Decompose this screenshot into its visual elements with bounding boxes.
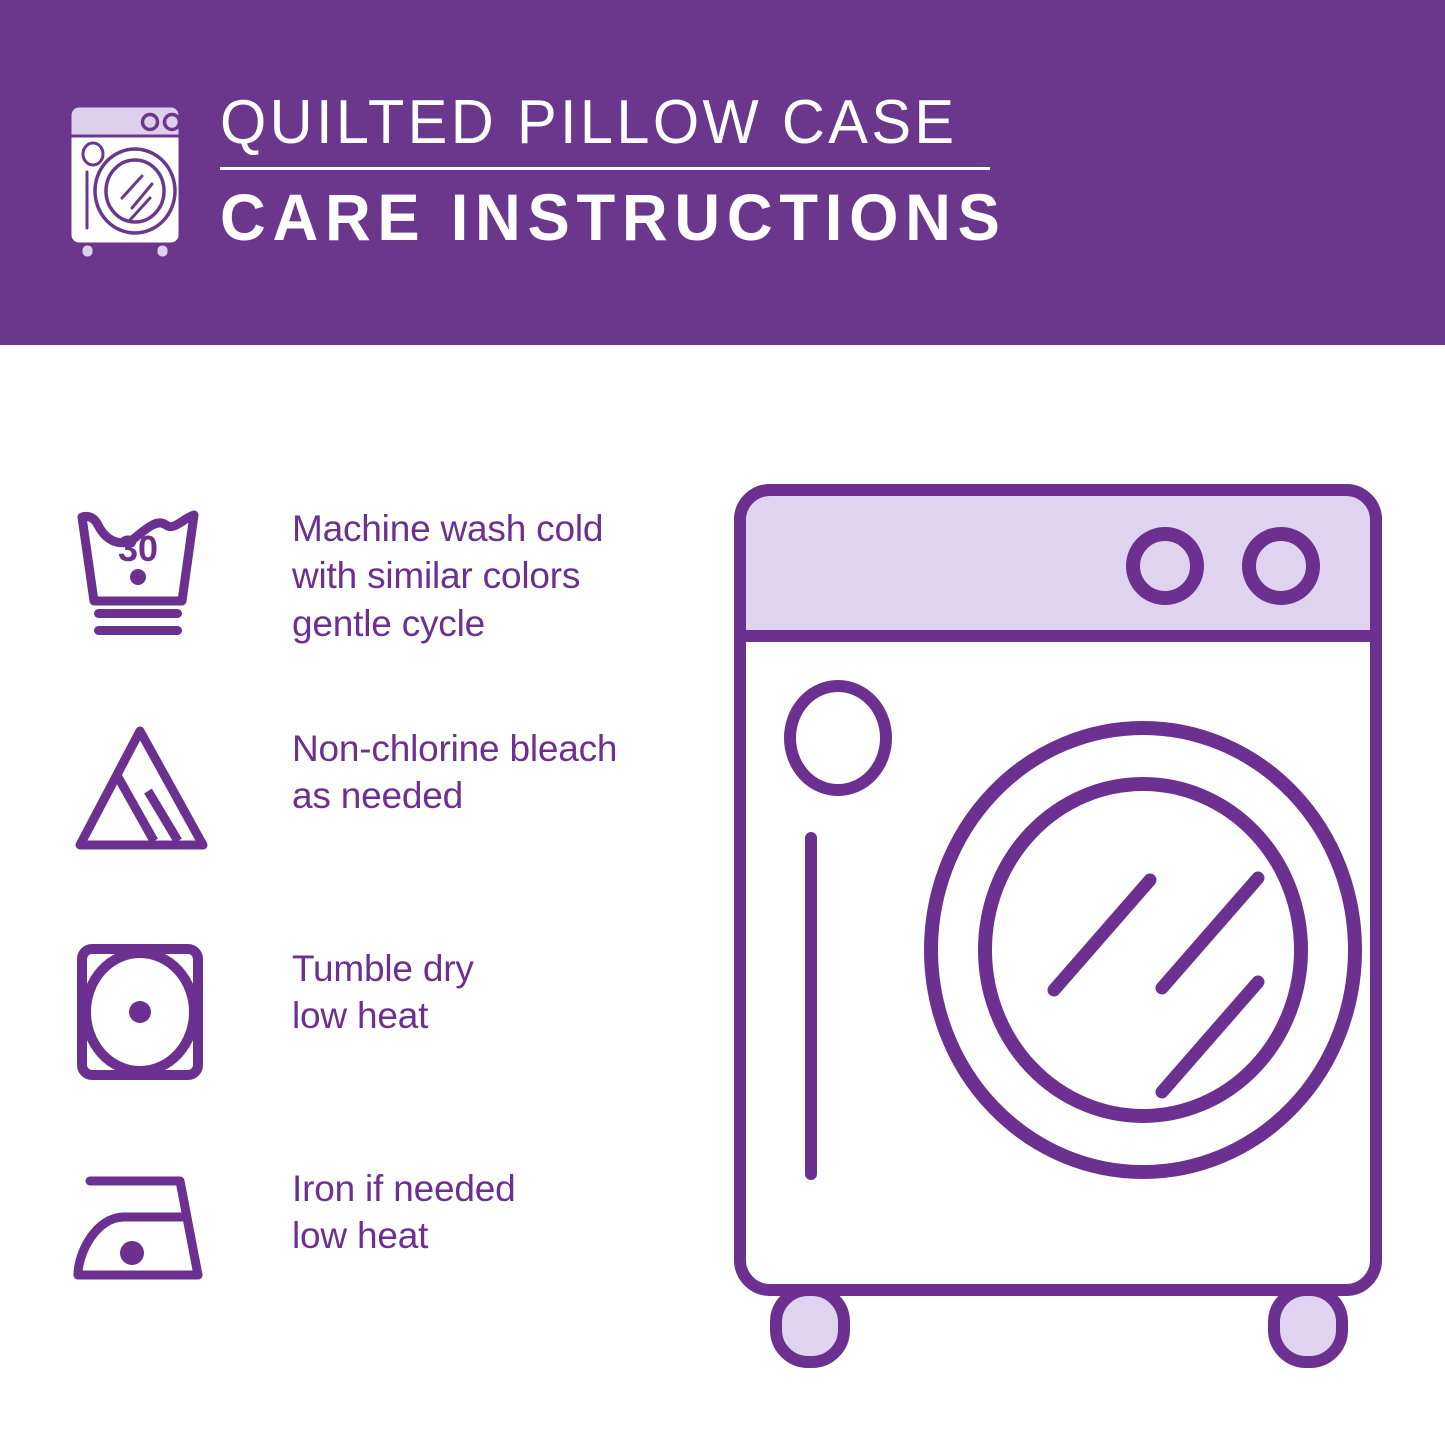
care-instruction-list: 30 Machine wash cold with similar colors… [70, 497, 690, 1377]
header-title-group: QUILTED PILLOW CASE CARE INSTRUCTIONS [220, 92, 1039, 250]
iron-low-heat-icon [70, 1157, 220, 1307]
non-chlorine-bleach-triangle-icon [70, 717, 220, 867]
care-row: Non-chlorine bleach as needed [70, 717, 690, 937]
machine-leg-right [1274, 1290, 1342, 1362]
machine-leg-left [776, 1290, 844, 1362]
wash-basin-30-icon: 30 [70, 497, 220, 647]
header-banner: QUILTED PILLOW CASE CARE INSTRUCTIONS [0, 0, 1445, 345]
washing-machine-icon [62, 100, 192, 260]
title-divider [220, 167, 990, 170]
washing-machine-graphic [718, 470, 1398, 1370]
care-row-label: Machine wash cold with similar colors ge… [292, 505, 603, 647]
tumble-dry-low-icon [70, 937, 220, 1087]
page-title: QUILTED PILLOW CASE [220, 92, 1007, 154]
care-row: Iron if needed low heat [70, 1157, 690, 1377]
wash-temperature-label: 30 [118, 528, 158, 569]
care-row: 30 Machine wash cold with similar colors… [70, 497, 690, 717]
care-row-label: Iron if needed low heat [292, 1165, 515, 1260]
large-washing-machine-illustration [718, 470, 1398, 1370]
care-row-label: Tumble dry low heat [292, 945, 474, 1040]
header-content: QUILTED PILLOW CASE CARE INSTRUCTIONS [62, 92, 1039, 260]
care-row-label: Non-chlorine bleach as needed [292, 725, 617, 820]
care-row: Tumble dry low heat [70, 937, 690, 1157]
page-subtitle: CARE INSTRUCTIONS [220, 184, 1007, 250]
machine-control-panel [740, 490, 1376, 636]
